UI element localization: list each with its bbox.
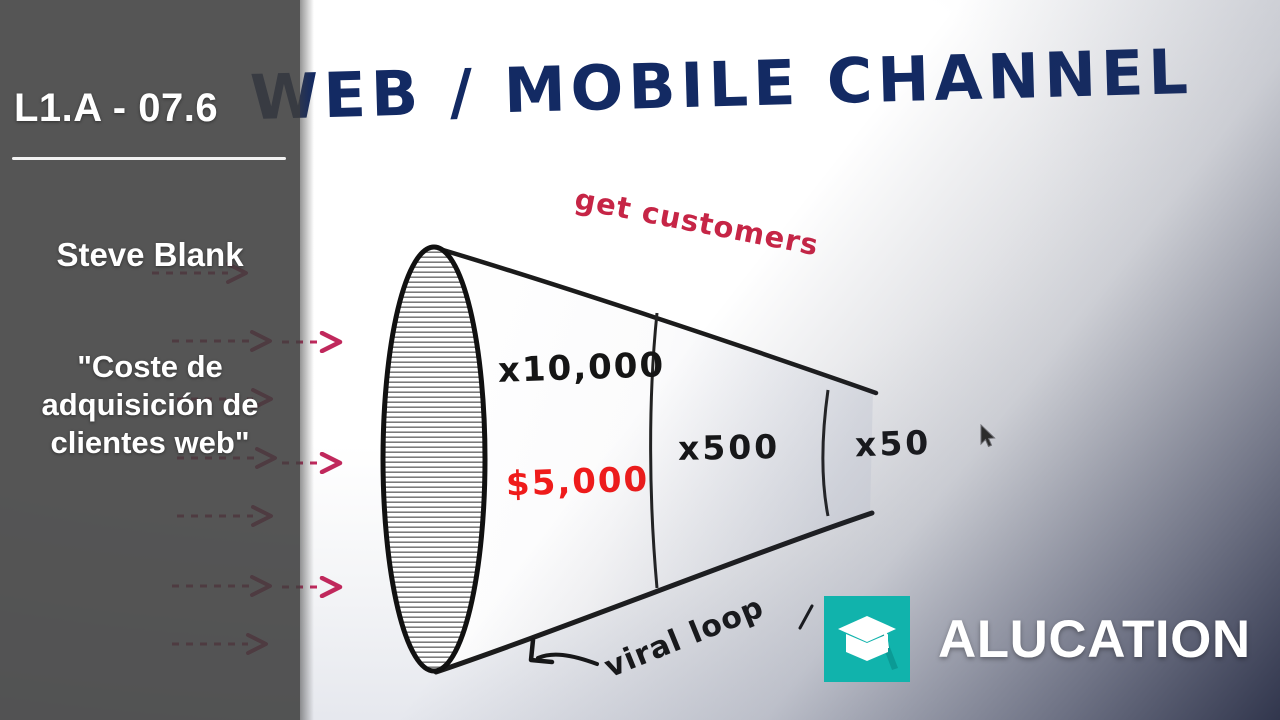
logo-wordmark: ALUCATION <box>938 609 1251 670</box>
logo-tile <box>824 596 910 682</box>
brand-logo: ALUCATION <box>824 596 1251 682</box>
graduation-cap-icon <box>824 596 910 682</box>
slide-canvas: WEB / MOBILE CHANNEL <box>0 0 1280 720</box>
mouse-cursor-icon <box>979 424 997 450</box>
